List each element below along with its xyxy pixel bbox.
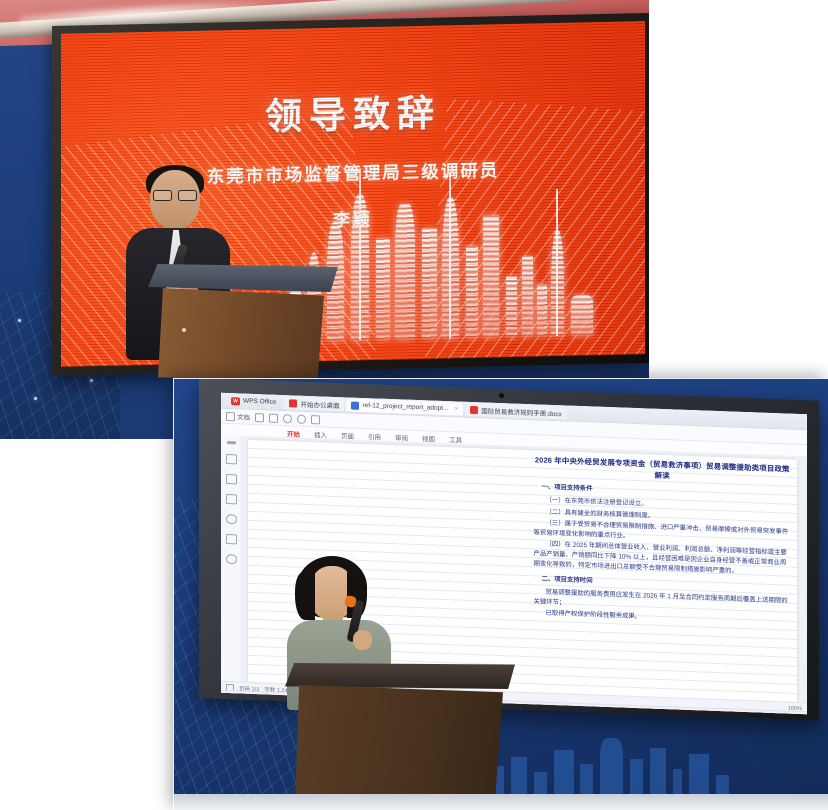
podium-top: [148, 264, 338, 292]
wall-skyline-graphic: [468, 730, 798, 800]
conference-opening-speech-photo: 领导致辞 东莞市市场监督管理局三级调研员 李颖: [0, 0, 650, 440]
signature-icon[interactable]: [226, 534, 237, 544]
info-icon[interactable]: [226, 554, 237, 564]
policy-briefing-presentation-photo: W WPS Office 开始办公桌面 ref-12_project_repor…: [173, 378, 828, 810]
hair-left: [295, 572, 315, 620]
wps-tab-2[interactable]: 国际贸易救济规则手册.docx: [465, 403, 567, 420]
hand: [353, 630, 372, 650]
photo-seam-vertical: [173, 378, 174, 810]
chevron-down-icon[interactable]: [311, 415, 320, 424]
wps-doc-icon: [289, 399, 297, 407]
menu-document[interactable]: 文档: [226, 411, 250, 422]
photo-edge-right: [649, 0, 650, 440]
redo-icon[interactable]: [297, 414, 306, 423]
search-icon[interactable]: [752, 713, 760, 715]
clip-icon[interactable]: [226, 514, 237, 524]
windows-start-icon[interactable]: [738, 712, 746, 714]
podium-body: [295, 685, 503, 805]
wps-tab-0[interactable]: 开始办公桌面: [284, 396, 344, 411]
camera-icon: [499, 393, 504, 398]
wps-tab-label: 开始办公桌面: [300, 398, 339, 409]
photo-seam-horizontal: [173, 378, 828, 379]
hamburger-icon: [226, 411, 235, 420]
wps-logo-mark: W: [231, 397, 240, 405]
podium-top: [285, 663, 515, 689]
menu-document-label: 文档: [237, 411, 250, 421]
wps-left-sidebar: [221, 435, 242, 683]
thumbnail-icon[interactable]: [226, 474, 237, 484]
wps-app-name: WPS Office: [243, 398, 276, 406]
composite-photo-canvas: 领导致辞 东莞市市场监督管理局三级调研员 李颖: [0, 0, 828, 810]
close-icon[interactable]: ×: [454, 405, 458, 412]
glasses-icon: [153, 190, 197, 199]
selection-pane-icon[interactable]: [226, 454, 237, 464]
wps-doc-icon: [351, 401, 359, 409]
speaking-podium: [148, 264, 338, 382]
podium-body: [158, 288, 324, 383]
wps-office-logo: W WPS Office: [225, 394, 282, 408]
outline-icon[interactable]: [227, 441, 236, 444]
floor-strip: [173, 794, 828, 810]
note-icon[interactable]: [226, 494, 237, 504]
speaking-podium-2: [285, 663, 515, 803]
undo-icon[interactable]: [283, 414, 292, 423]
wps-doc-icon: [470, 405, 478, 413]
save-icon[interactable]: [255, 413, 264, 422]
print-icon[interactable]: [269, 413, 278, 422]
wps-tab-label: 国际贸易救济规则手册.docx: [481, 405, 562, 418]
edge-icon[interactable]: [766, 713, 774, 714]
wps-tab-label: ref-12_project_report_adopt...: [362, 402, 448, 412]
document-text-column: 2026 年中央外经贸发展专项资金（贸易救济事项）贸易调整援助类项目政策解读 一…: [533, 454, 791, 629]
